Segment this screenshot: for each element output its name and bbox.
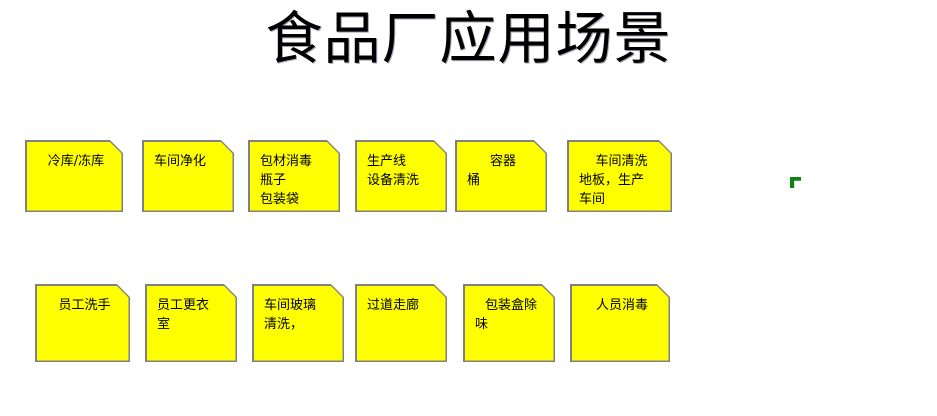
scenario-card-label: 员工洗手 — [47, 296, 122, 315]
scenario-card-label: 生产线 设备清洗 — [367, 152, 439, 190]
scenario-card-line: 味 — [475, 315, 547, 334]
scenario-card-label: 人员消毒 — [582, 296, 662, 315]
scenario-card[interactable]: 车间净化 — [142, 140, 234, 212]
scenario-card-line: 容器 — [467, 152, 539, 171]
scenario-card-label: 冷库/冻库 — [37, 152, 115, 171]
scenario-card[interactable]: 员工洗手 — [35, 284, 130, 362]
scenario-card[interactable]: 人员消毒 — [570, 284, 670, 362]
scenario-card-line: 包装盒除 — [475, 296, 547, 315]
scenario-card[interactable]: 包材消毒 瓶子 包装袋 — [248, 140, 340, 212]
scenario-card-label: 员工更衣 室 — [157, 296, 229, 334]
scenario-card-label: 车间净化 — [154, 152, 226, 171]
scenario-card-label: 包装盒除味 — [475, 296, 547, 334]
scenario-card-line: 车间 — [579, 190, 664, 209]
scenario-card-line: 桶 — [467, 171, 539, 190]
scenario-card-label: 容器桶 — [467, 152, 539, 190]
scenario-card[interactable]: 过道走廊 — [355, 284, 447, 362]
green-corner-marker-icon — [790, 177, 801, 188]
scenario-card[interactable]: 车间清洗地板，生产车间 — [567, 140, 672, 212]
scenario-card-line: 地板，生产 — [579, 171, 664, 190]
slide-canvas: 食品厂应用场景 冷库/冻库车间净化包材消毒 瓶子 包装袋生产线 设备清洗容器桶车… — [0, 0, 937, 416]
scenario-card[interactable]: 容器桶 — [455, 140, 547, 212]
scenario-card-label: 包材消毒 瓶子 包装袋 — [260, 152, 332, 209]
scenario-card[interactable]: 车间玻璃 清洗， — [252, 284, 344, 362]
page-title: 食品厂应用场景 — [0, 4, 937, 74]
scenario-card-label: 车间玻璃 清洗， — [264, 296, 336, 334]
scenario-card-line: 车间清洗 — [579, 152, 664, 171]
scenario-card[interactable]: 包装盒除味 — [463, 284, 555, 362]
scenario-card-label: 过道走廊 — [367, 296, 439, 315]
scenario-card-label: 车间清洗地板，生产车间 — [579, 152, 664, 209]
scenario-card[interactable]: 员工更衣 室 — [145, 284, 237, 362]
scenario-card[interactable]: 冷库/冻库 — [25, 140, 123, 212]
scenario-card[interactable]: 生产线 设备清洗 — [355, 140, 447, 212]
